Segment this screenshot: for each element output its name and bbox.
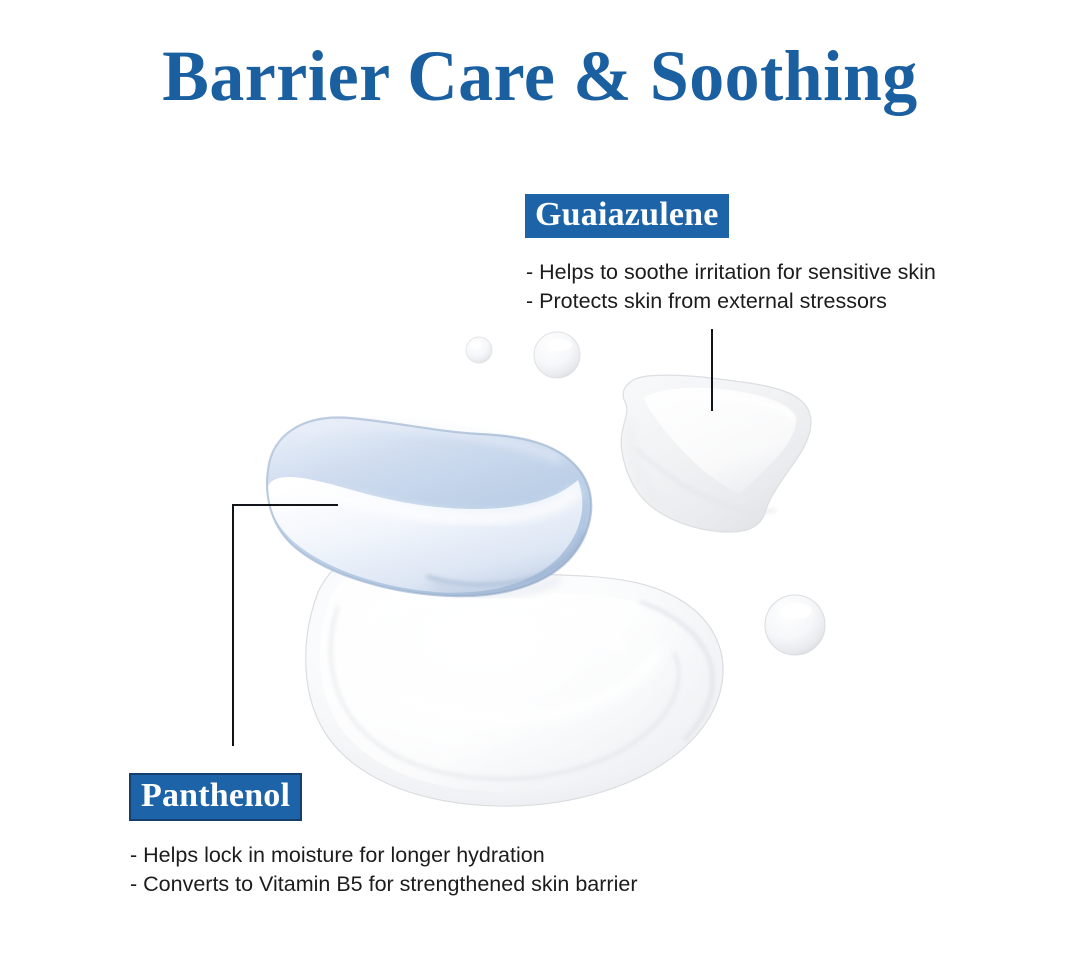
callout-guaiazulene: Guaiazulene - Helps to soothe irritation… (525, 194, 936, 316)
benefit-item: - Protects skin from external stressors (526, 287, 936, 316)
benefit-item: - Converts to Vitamin B5 for strengthene… (130, 870, 637, 899)
leader-line-guaiazulene (711, 329, 713, 411)
infographic-page: Barrier Care & Soothing Guaiazulene - He… (0, 0, 1080, 974)
droplet-medium-upper (534, 332, 580, 378)
white-cream-swirl (306, 550, 723, 806)
droplet-lower-right (765, 595, 825, 655)
benefit-list-guaiazulene: - Helps to soothe irritation for sensiti… (526, 258, 936, 316)
page-title: Barrier Care & Soothing (16, 36, 1064, 116)
benefit-item: - Helps lock in moisture for longer hydr… (130, 841, 637, 870)
leader-line-panthenol-horizontal (232, 504, 338, 506)
droplet-small-upper (466, 337, 492, 363)
benefit-item: - Helps to soothe irritation for sensiti… (526, 258, 936, 287)
blue-cream-dollop (267, 417, 591, 596)
callout-panthenol: Panthenol - Helps lock in moisture for l… (129, 773, 637, 899)
leader-line-panthenol-vertical (232, 504, 234, 746)
ingredient-label-panthenol: Panthenol (129, 773, 302, 821)
benefit-list-panthenol: - Helps lock in moisture for longer hydr… (130, 841, 637, 899)
clear-gel-blob (621, 375, 811, 532)
ingredient-label-guaiazulene: Guaiazulene (525, 194, 729, 238)
